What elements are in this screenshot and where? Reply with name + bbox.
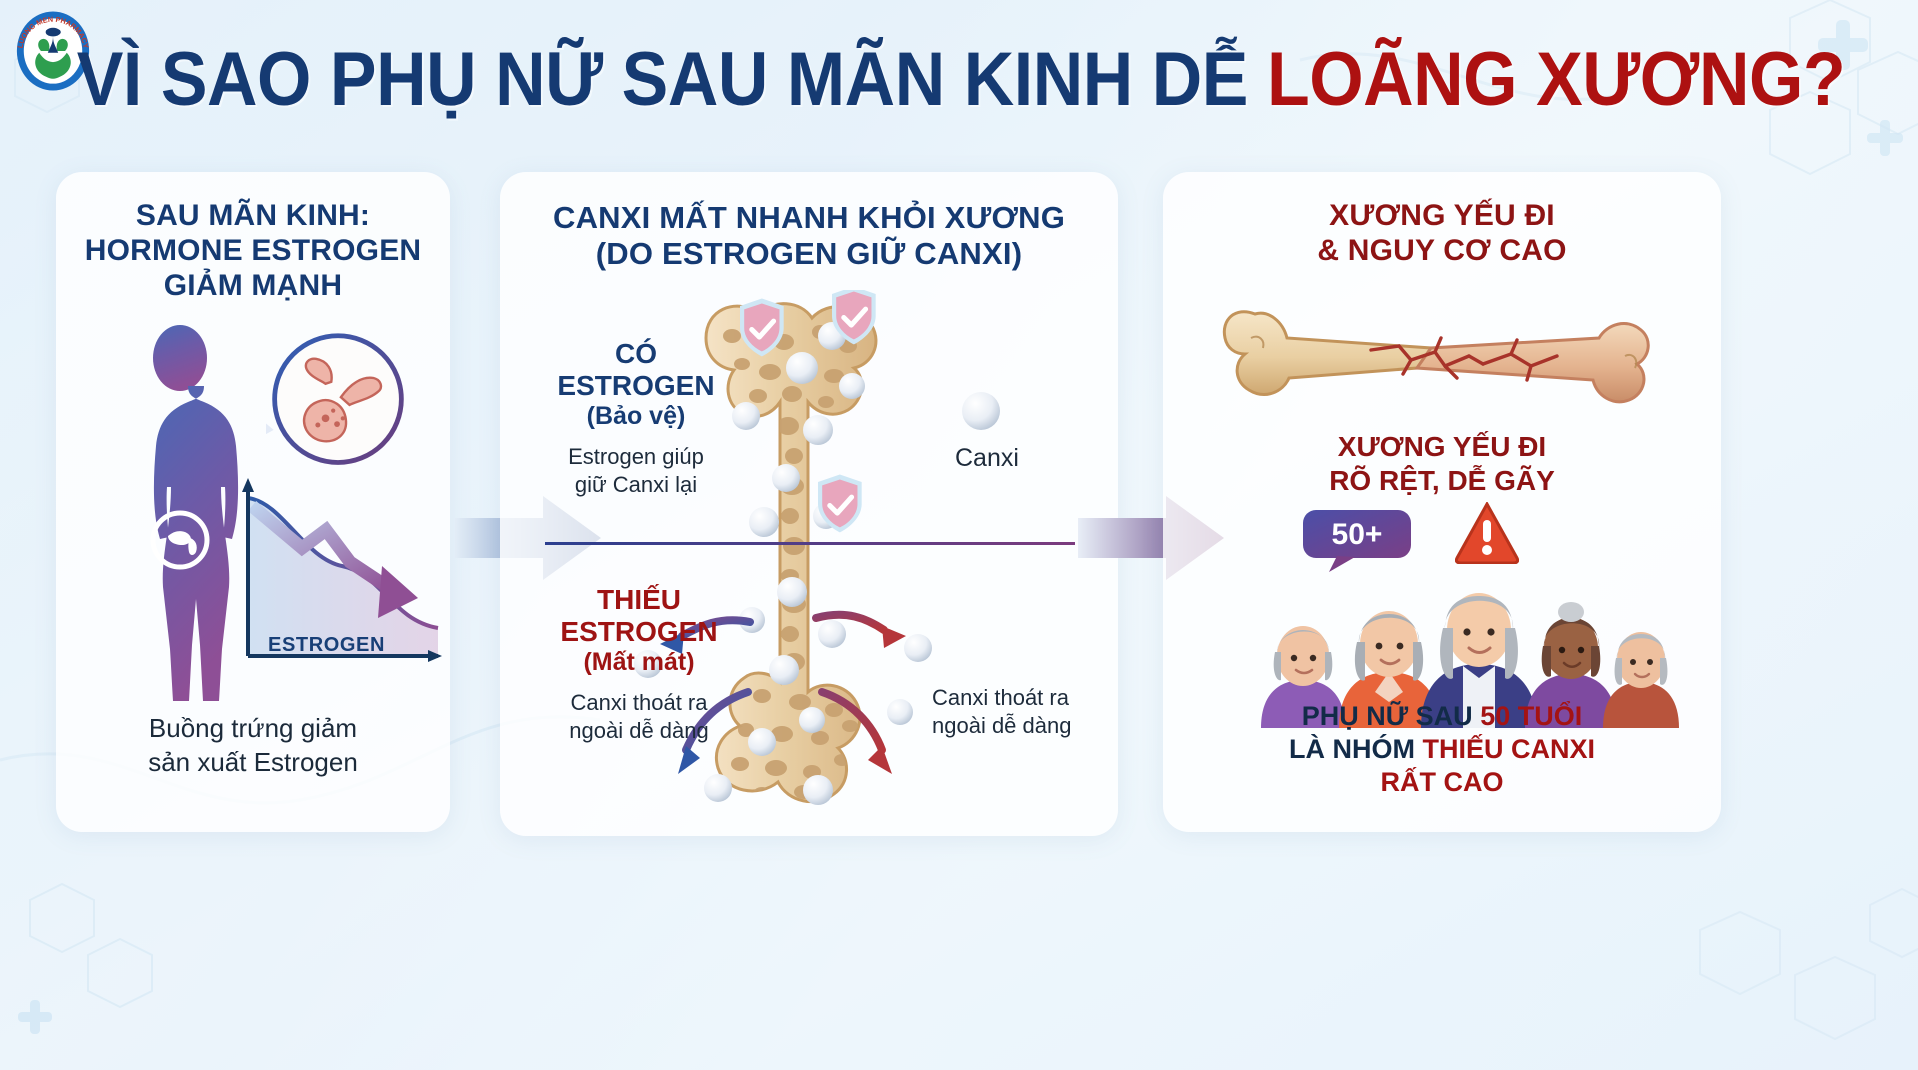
panel-right: XƯƠNG YẾU ĐI & NGUY CƠ CAO [1163,172,1721,832]
panel-left-caption-line2: sản xuất Estrogen [56,746,450,780]
calcium-escape-note: Canxi thoát ra ngoài dễ dàng [932,684,1100,740]
page-title: VÌ SAO PHỤ NỮ SAU MÃN KINH DỄ LOÃNG XƯƠN… [77,42,1842,118]
panel-center-heading: CANXI MẤT NHANH KHỎI XƯƠNG (DO ESTROGEN … [500,200,1118,273]
panel-left-caption: Buồng trứng giảm sản xuất Estrogen [56,712,450,780]
bottom-line2-highlight: THIẾU CANXI [1422,734,1595,764]
panel-right-midtext-line2: RÕ RỆT, DỄ GÃY [1163,464,1721,498]
panel-center: CANXI MẤT NHANH KHỎI XƯƠNG (DO ESTROGEN … [500,172,1118,836]
panel-left-heading-line3: GIẢM MẠNH [56,268,450,303]
panel-center-heading-line2: (DO ESTROGEN GIỮ CANXI) [500,236,1118,272]
panel-left-heading-line1: SAU MÃN KINH: [56,198,450,233]
panel-center-divider [545,542,1075,545]
warning-triangle-icon [1455,502,1519,564]
title-blue-part: VÌ SAO PHỤ NỮ SAU MÃN KINH DỄ [77,37,1248,122]
lack-estrogen-subtitle: (Mất mát) [534,648,744,677]
calcium-legend-sphere-icon [960,390,1002,432]
bottom-line3-highlight: RẤT CAO [1381,767,1504,797]
bottom-line1-plain: PHỤ NỮ SAU [1302,701,1480,731]
have-estrogen-title-line1: CÓ [536,338,736,370]
panel-left: SAU MÃN KINH: HORMONE ESTROGEN GIẢM MẠNH [56,172,450,832]
bottom-line2-plain: LÀ NHÓM [1289,734,1422,764]
panel-right-heading-line1: XƯƠNG YẾU ĐI [1163,198,1721,233]
ovary-uterus-icon [266,330,410,474]
calcium-escape-note-line2: ngoài dễ dàng [932,712,1100,740]
panel-right-midtext-line1: XƯƠNG YẾU ĐI [1163,430,1721,464]
have-estrogen-body-line2: giữ Canxi lại [536,471,736,499]
have-estrogen-body: Estrogen giúp giữ Canxi lại [536,443,736,499]
block-lack-estrogen: THIẾU ESTROGEN (Mất mát) Canxi thoát ra … [534,584,744,745]
panel-right-heading: XƯƠNG YẾU ĐI & NGUY CƠ CAO [1163,198,1721,268]
estrogen-axis-label: ESTROGEN [268,634,385,657]
lack-estrogen-title-line1: THIẾU [534,584,744,616]
panel-center-heading-line1: CANXI MẤT NHANH KHỎI XƯƠNG [500,200,1118,236]
calcium-legend-label: Canxi [955,444,1019,473]
block-have-estrogen: CÓ ESTROGEN (Bảo vệ) Estrogen giúp giữ C… [536,338,736,499]
panel-right-bottom-text: PHỤ NỮ SAU 50 TUỔI LÀ NHÓM THIẾU CANXI R… [1171,700,1713,799]
calcium-escape-note-line1: Canxi thoát ra [932,684,1100,712]
have-estrogen-body-line1: Estrogen giúp [536,443,736,471]
have-estrogen-title-line2: ESTROGEN [536,370,736,402]
panel-right-midtext: XƯƠNG YẾU ĐI RÕ RỆT, DỄ GÃY [1163,430,1721,497]
panel-left-heading-line2: HORMONE ESTROGEN [56,233,450,268]
fractured-bone-icon [1221,294,1665,422]
panel-right-heading-line2: & NGUY CƠ CAO [1163,233,1721,268]
title-red-part: LOÃNG XƯƠNG? [1267,37,1845,122]
lack-estrogen-body: Canxi thoát ra ngoài dễ dàng [534,689,744,745]
bottom-line1-highlight: 50 TUỔI [1480,701,1582,731]
have-estrogen-subtitle: (Bảo vệ) [536,402,736,431]
lack-estrogen-body-line2: ngoài dễ dàng [534,717,744,745]
lack-estrogen-body-line1: Canxi thoát ra [534,689,744,717]
panel-left-caption-line1: Buồng trứng giảm [56,712,450,746]
panel-left-heading: SAU MÃN KINH: HORMONE ESTROGEN GIẢM MẠNH [56,198,450,303]
badge-50-label: 50+ [1332,518,1383,551]
lack-estrogen-title-line2: ESTROGEN [534,616,744,648]
